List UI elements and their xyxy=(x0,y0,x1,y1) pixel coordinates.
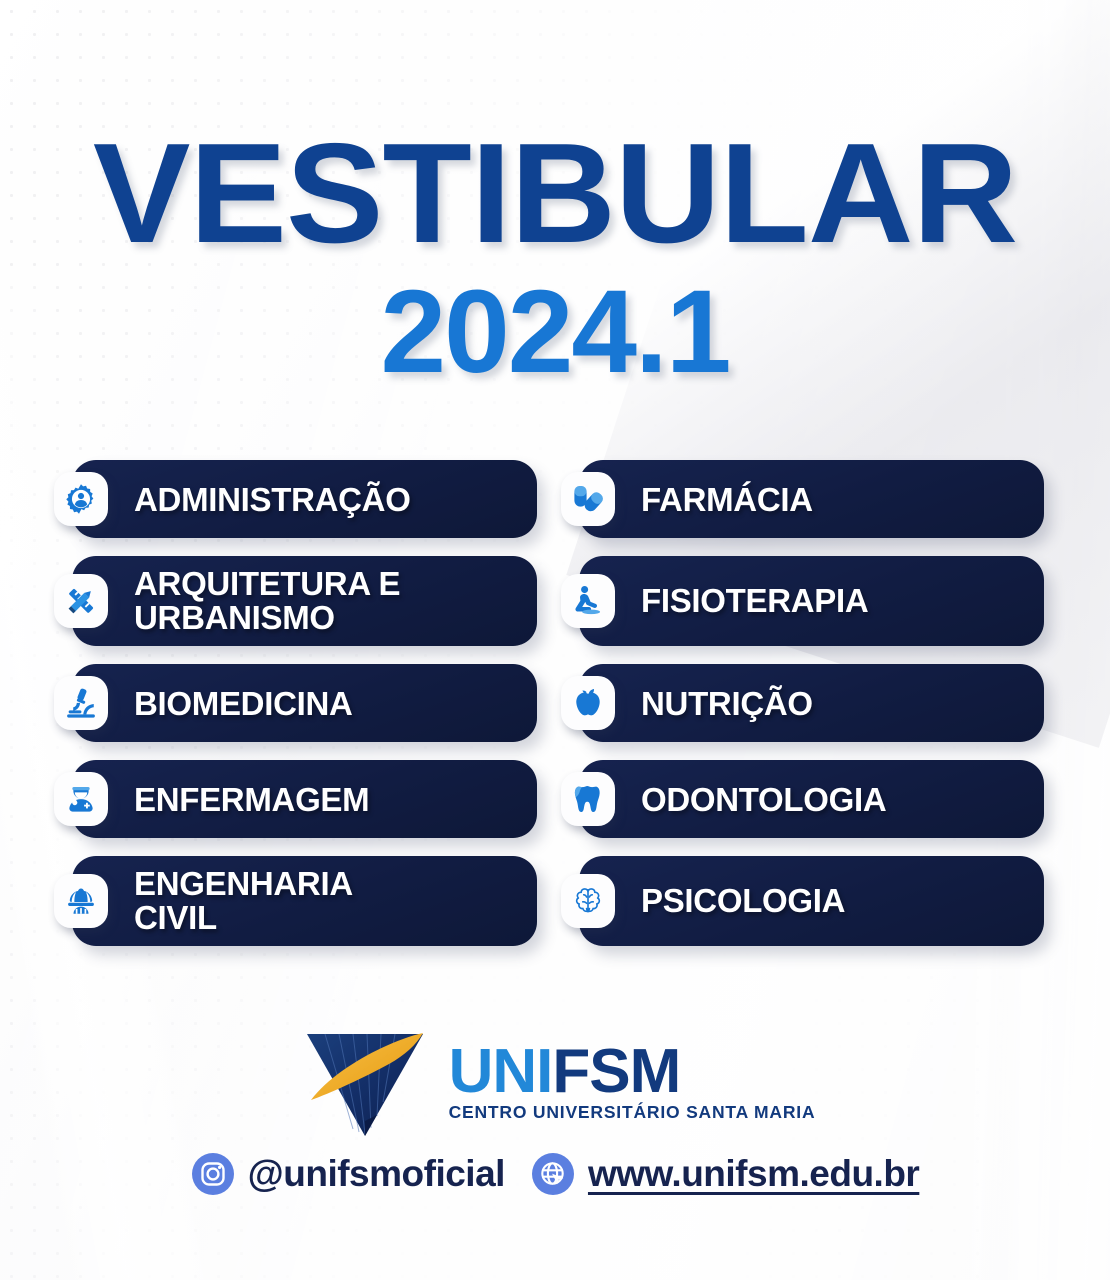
poster-headline-block: VESTIBULAR 2024.1 xyxy=(0,124,1110,391)
course-pill-arquitetura-urbanismo[interactable]: ARQUITETURA E URBANISMO xyxy=(72,556,537,646)
poster-term: 2024.1 xyxy=(0,273,1110,391)
capsule-pills-icon xyxy=(561,472,615,526)
course-pill-administracao[interactable]: ADMINISTRAÇÃO xyxy=(72,460,537,538)
course-label: ARQUITETURA E URBANISMO xyxy=(134,567,400,634)
instagram-handle: @unifsmoficial xyxy=(248,1153,505,1195)
logo-tagline: CENTRO UNIVERSITÁRIO SANTA MARIA xyxy=(449,1102,816,1123)
nurse-icon xyxy=(54,772,108,826)
instagram-icon xyxy=(191,1152,235,1196)
hard-hat-icon xyxy=(54,874,108,928)
website-contact[interactable]: www.unifsm.edu.br xyxy=(531,1152,919,1196)
tooth-icon xyxy=(561,772,615,826)
course-pill-biomedicina[interactable]: BIOMEDICINA xyxy=(72,664,537,742)
footer-contacts: @unifsmoficial www.unifsm.edu.br xyxy=(0,1152,1110,1196)
course-label: ODONTOLOGIA xyxy=(641,783,886,816)
physiotherapy-person-icon xyxy=(561,574,615,628)
instagram-contact[interactable]: @unifsmoficial xyxy=(191,1152,505,1196)
course-label: ENGENHARIA CIVIL xyxy=(134,867,353,934)
logo-word-uni: UNI xyxy=(449,1037,553,1106)
course-pill-odontologia[interactable]: ODONTOLOGIA xyxy=(579,760,1044,838)
unifsm-logo-mark-icon xyxy=(295,1024,435,1142)
course-pill-enfermagem[interactable]: ENFERMAGEM xyxy=(72,760,537,838)
course-label: PSICOLOGIA xyxy=(641,884,845,918)
logo-word-fsm: FSM xyxy=(552,1037,680,1106)
brain-icon xyxy=(561,874,615,928)
course-pill-psicologia[interactable]: PSICOLOGIA xyxy=(579,856,1044,946)
course-label: NUTRIÇÃO xyxy=(641,687,813,720)
course-label: FARMÁCIA xyxy=(641,483,813,516)
course-pill-fisioterapia[interactable]: FISIOTERAPIA xyxy=(579,556,1044,646)
course-label: ENFERMAGEM xyxy=(134,783,369,816)
globe-cursor-icon xyxy=(531,1152,575,1196)
ruler-pencil-icon xyxy=(54,574,108,628)
unifsm-wordmark: UNIFSM xyxy=(449,1043,681,1100)
microscope-icon xyxy=(54,676,108,730)
course-pill-engenharia-civil[interactable]: ENGENHARIA CIVIL xyxy=(72,856,537,946)
course-pill-nutricao[interactable]: NUTRIÇÃO xyxy=(579,664,1044,742)
apple-icon xyxy=(561,676,615,730)
poster-title: VESTIBULAR xyxy=(0,124,1110,263)
unifsm-logo: UNIFSM CENTRO UNIVERSITÁRIO SANTA MARIA xyxy=(0,1024,1110,1142)
course-list: ADMINISTRAÇÃO FARMÁCIA xyxy=(72,460,1044,946)
unifsm-logo-text: UNIFSM CENTRO UNIVERSITÁRIO SANTA MARIA xyxy=(449,1043,816,1123)
course-label: FISIOTERAPIA xyxy=(641,584,868,618)
website-url: www.unifsm.edu.br xyxy=(588,1153,919,1195)
course-label: ADMINISTRAÇÃO xyxy=(134,483,411,516)
course-pill-farmacia[interactable]: FARMÁCIA xyxy=(579,460,1044,538)
gear-person-icon xyxy=(54,472,108,526)
course-label: BIOMEDICINA xyxy=(134,687,353,720)
